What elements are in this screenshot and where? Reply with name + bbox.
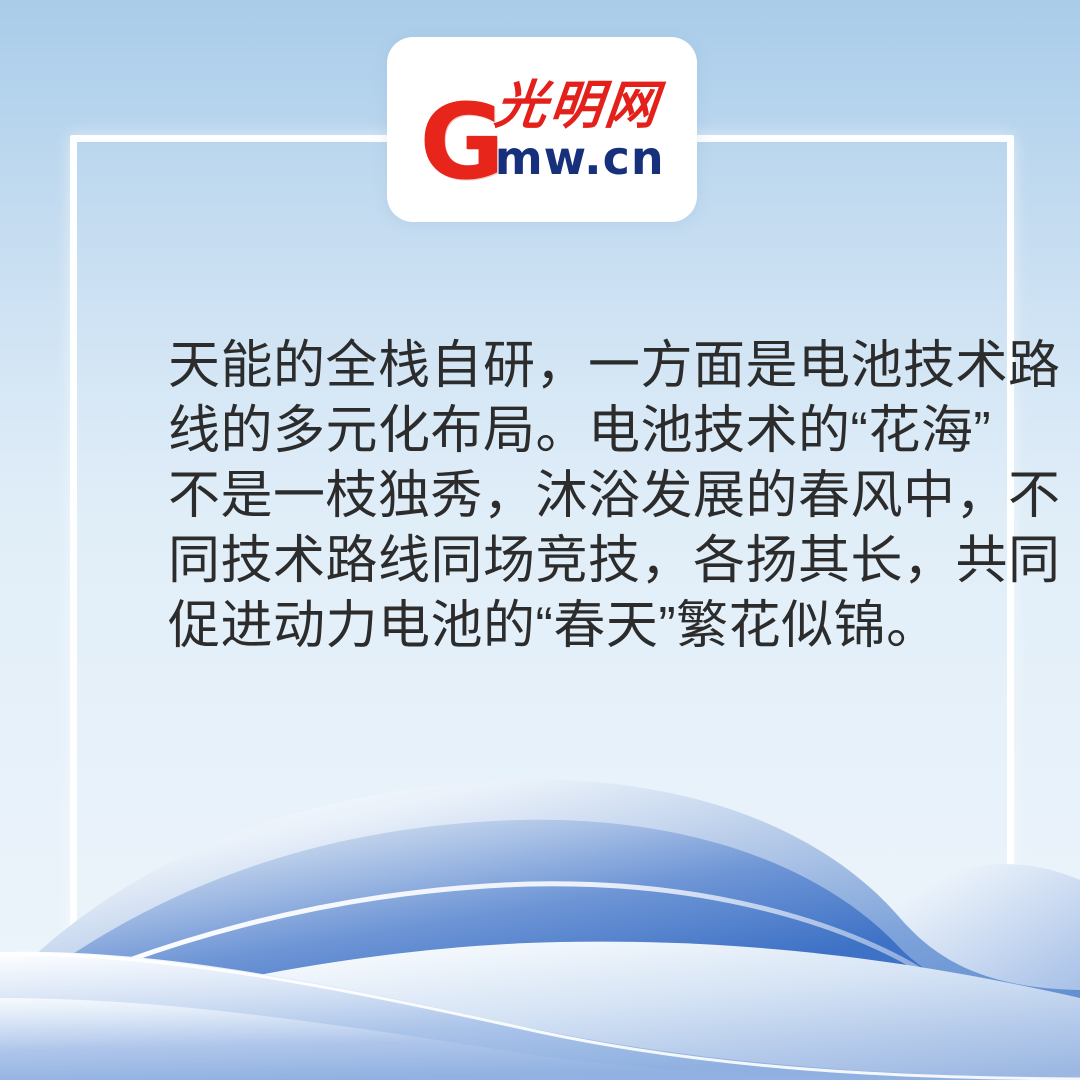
logo-wrap: G 光明网 mw.cn: [419, 80, 664, 182]
logo-chinese-name: 光明网: [492, 80, 667, 132]
quote-line-3: 不是一枝独秀，沐浴发展的春风中，不: [168, 464, 958, 529]
poster-canvas: G 光明网 mw.cn 天能的全栈自研，一方面是电池技术路 线的多元化布局。电池…: [0, 0, 1080, 1080]
wave-mid: [0, 942, 1080, 1080]
logo-domain-text: mw.cn: [495, 134, 665, 182]
logo-text-group: 光明网 mw.cn: [495, 80, 665, 182]
quote-line-4: 同技术路线同场竞技，各扬其长，共同: [168, 529, 958, 594]
logo-row: G 光明网 mw.cn: [419, 80, 664, 182]
gmw-g-mark-icon: G: [419, 98, 500, 187]
logo-card[interactable]: G 光明网 mw.cn: [387, 37, 697, 222]
quote-line-2: 线的多元化布局。电池技术的“花海”: [168, 399, 958, 464]
wave-front-fold: [0, 998, 1080, 1080]
wave-front: [0, 952, 1080, 1080]
quote-line-1: 天能的全栈自研，一方面是电池技术路: [168, 334, 958, 399]
quote-block: 天能的全栈自研，一方面是电池技术路 线的多元化布局。电池技术的“花海” 不是一枝…: [168, 334, 958, 659]
quote-line-5: 促进动力电池的“春天”繁花似锦。: [168, 594, 958, 659]
wave-front-highlight: [0, 954, 1080, 1079]
